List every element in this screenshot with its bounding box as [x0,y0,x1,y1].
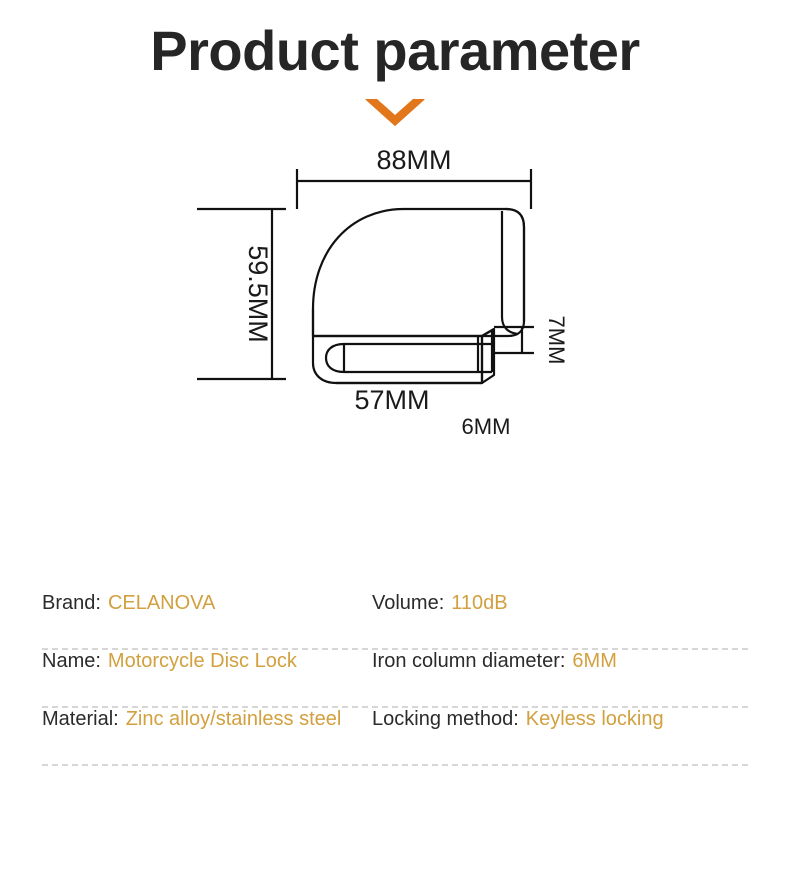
chevron-down-icon [364,97,426,131]
spec-value: 6MM [572,650,616,673]
spec-label: Material: [42,708,119,731]
spec-row: Name: Motorcycle Disc Lock Iron column d… [0,650,790,706]
spec-row: Material: Zinc alloy/stainless steel Loc… [0,708,790,764]
specifications-table: Brand: CELANOVA Volume: 110dB Name: Moto… [0,592,790,766]
lock-slot-channel [326,344,492,372]
page-header: Product parameter [0,0,790,131]
dimension-diagram: 88MM 59.5MM 57MM 7MM 6MM [0,131,790,521]
dim-label-88mm: 88MM [376,145,451,175]
spec-cell-locking-method: Locking method: Keyless locking [372,708,664,731]
spec-label: Volume: [372,592,444,615]
spec-cell-material: Material: Zinc alloy/stainless steel [0,708,372,731]
spec-label: Iron column diameter: [372,650,565,673]
spec-separator [42,764,748,766]
page-title: Product parameter [0,22,790,81]
spec-value: Motorcycle Disc Lock [108,650,297,673]
lock-body-upper [313,209,524,336]
spec-cell-iron-column-diameter: Iron column diameter: 6MM [372,650,617,673]
spec-label: Locking method: [372,708,519,731]
spec-value: Zinc alloy/stainless steel [126,708,342,731]
dimension-drawing-svg: 88MM 59.5MM 57MM 7MM 6MM [0,131,790,521]
dim-label-59-5mm: 59.5MM [243,245,273,343]
spec-cell-brand: Brand: CELANOVA [0,592,372,615]
lock-body-right-edge [506,209,524,321]
spec-value: Keyless locking [526,708,664,731]
spec-label: Name: [42,650,101,673]
dim-label-6mm: 6MM [462,414,511,439]
lock-body-corner-bottom [502,317,518,334]
spec-cell-volume: Volume: 110dB [372,592,508,615]
spec-row: Brand: CELANOVA Volume: 110dB [0,592,790,648]
chevron-wrap [0,97,790,131]
dim-label-7mm: 7MM [544,315,569,364]
dim-label-57mm: 57MM [354,385,429,415]
spec-value: CELANOVA [108,592,215,615]
spec-label: Brand: [42,592,101,615]
spec-cell-name: Name: Motorcycle Disc Lock [0,650,372,673]
spec-value: 110dB [451,592,507,615]
